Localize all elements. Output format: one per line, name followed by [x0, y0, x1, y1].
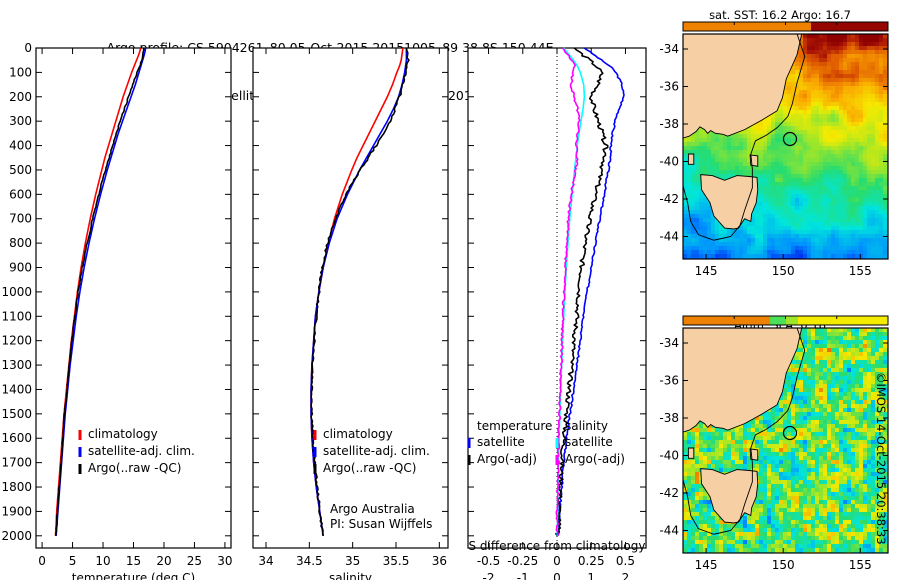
map-cell [815, 150, 820, 155]
map-cell [723, 254, 728, 259]
map-cell [827, 254, 832, 259]
map-cell [859, 190, 864, 195]
map-cell [739, 242, 744, 247]
map-cell [815, 206, 820, 211]
map-cell [779, 238, 784, 243]
map-cell [827, 162, 832, 167]
map-cell [807, 74, 812, 79]
map-cell [875, 66, 880, 71]
map-cell [827, 126, 832, 131]
map-cell [723, 174, 728, 179]
map-cell [827, 242, 832, 247]
map-cell [767, 218, 772, 223]
map-cell [715, 448, 720, 453]
map-cell [787, 432, 792, 437]
map-cell [871, 190, 876, 195]
map-cell [879, 162, 884, 167]
map-cell [767, 436, 772, 441]
map-cell [751, 544, 756, 549]
map-cell [691, 524, 696, 529]
map-cell [835, 174, 840, 179]
map-cell [811, 58, 816, 63]
map-cell [843, 78, 848, 83]
map-cell [815, 242, 820, 247]
map-cell [863, 58, 868, 63]
map-cell [759, 444, 764, 449]
y-tick-label: 1700 [1, 456, 32, 470]
map-cell [759, 540, 764, 545]
map-cell [735, 464, 740, 469]
map-cell [711, 548, 716, 553]
map-cell [699, 508, 704, 513]
map-cell [703, 230, 708, 235]
map-cell [831, 126, 836, 131]
map-cell [803, 250, 808, 255]
map-cell [739, 444, 744, 449]
map-cell [831, 206, 836, 211]
map-cell [683, 472, 688, 477]
map-cell [683, 512, 688, 517]
map-cell [823, 250, 828, 255]
map-cell [819, 186, 824, 191]
map-cell [695, 500, 700, 505]
map-cell [803, 254, 808, 259]
map-cell [859, 38, 864, 43]
map-cell [779, 202, 784, 207]
map-cell [755, 206, 760, 211]
map-cell [819, 254, 824, 259]
map-cell [851, 194, 856, 199]
map-cell [815, 110, 820, 115]
map-cell [811, 234, 816, 239]
map-cell [787, 226, 792, 231]
map-cell [863, 218, 868, 223]
map-cell [875, 158, 880, 163]
map-cell [755, 134, 760, 139]
map-cell [771, 202, 776, 207]
map-cell [819, 150, 824, 155]
map-cell [759, 194, 764, 199]
map-cell [815, 230, 820, 235]
map-cell [863, 230, 868, 235]
map-cell [755, 126, 760, 131]
map-cell [707, 150, 712, 155]
map-cell [807, 174, 812, 179]
map-cell [699, 432, 704, 437]
map-cell [827, 122, 832, 127]
map-cell [867, 166, 872, 171]
map-cell [771, 182, 776, 187]
map-cell [871, 218, 876, 223]
map-cell [811, 166, 816, 171]
map-cell [871, 122, 876, 127]
map-cell [699, 544, 704, 549]
map-cell [763, 448, 768, 453]
map-cell [775, 432, 780, 437]
map-cell [815, 190, 820, 195]
map-cell [791, 190, 796, 195]
map-cell [787, 468, 792, 473]
map-cell [687, 472, 692, 477]
map-cell [707, 456, 712, 461]
map-cell [707, 504, 712, 509]
map-cell [791, 82, 796, 87]
map-cell [779, 504, 784, 509]
map-cell [739, 238, 744, 243]
map-cell [879, 250, 884, 255]
map-cell [843, 150, 848, 155]
map-cell [687, 170, 692, 175]
map-cell [699, 444, 704, 449]
map-cell [687, 226, 692, 231]
map-cell [883, 78, 888, 83]
map-cell [875, 146, 880, 151]
map-cell [859, 58, 864, 63]
map-cell [743, 226, 748, 231]
map-cell [755, 230, 760, 235]
map-cell [771, 496, 776, 501]
map-cell [867, 226, 872, 231]
map-cell [807, 130, 812, 135]
map-cell [703, 154, 708, 159]
legend-label: Argo(..raw -QC) [323, 461, 416, 475]
map-cell [695, 480, 700, 485]
map-cell [847, 206, 852, 211]
map-cell [807, 166, 812, 171]
map-cell [731, 460, 736, 465]
map-cell [839, 42, 844, 47]
map-cell [791, 238, 796, 243]
map-cell [847, 74, 852, 79]
map-cell [763, 528, 768, 533]
map-cell [807, 194, 812, 199]
map-cell [767, 480, 772, 485]
map-cell [815, 254, 820, 259]
map-cell [771, 504, 776, 509]
y-tick-label: 600 [9, 187, 32, 201]
map-cell [783, 508, 788, 513]
map-cell [719, 464, 724, 469]
map-cell [731, 150, 736, 155]
map-cell [799, 158, 804, 163]
map-cell [763, 174, 768, 179]
map-cell [759, 130, 764, 135]
map-cell [827, 138, 832, 143]
map-cell [775, 464, 780, 469]
map-cell [799, 254, 804, 259]
map-cell [819, 58, 824, 63]
map-cell [883, 170, 888, 175]
map-cell [859, 214, 864, 219]
map-cell [695, 238, 700, 243]
map-cell [883, 226, 888, 231]
map-cell [803, 162, 808, 167]
map-cell [823, 90, 828, 95]
map-cell [799, 178, 804, 183]
map-cell [747, 130, 752, 135]
map-cell [815, 210, 820, 215]
map-cell [831, 222, 836, 227]
map-cell [787, 78, 792, 83]
map-cell [799, 230, 804, 235]
map-cell [699, 456, 704, 461]
map-cell [819, 206, 824, 211]
map-cell [831, 70, 836, 75]
x-tick-label: 15 [126, 554, 141, 568]
map-cell [767, 420, 772, 425]
map-cell [707, 162, 712, 167]
map-cell [811, 142, 816, 147]
map-cell [775, 548, 780, 553]
map-cell [707, 452, 712, 457]
map-cell [799, 186, 804, 191]
map-cell [731, 138, 736, 143]
map-cell [835, 126, 840, 131]
map-cell [867, 214, 872, 219]
map-cell [735, 432, 740, 437]
map-cell [835, 142, 840, 147]
map-cell [687, 468, 692, 473]
map-cell [691, 246, 696, 251]
map-cell [723, 444, 728, 449]
y-tick-label: 1900 [1, 504, 32, 518]
map-cell [735, 162, 740, 167]
map-cell [879, 114, 884, 119]
map-cell [871, 102, 876, 107]
map-cell [787, 254, 792, 259]
map-cell [823, 246, 828, 251]
map-cell [787, 416, 792, 421]
map-cell [707, 146, 712, 151]
map-cell [787, 488, 792, 493]
x-tick-label: 25 [187, 554, 202, 568]
map-cell [791, 226, 796, 231]
map-cell [863, 46, 868, 51]
map-cell [803, 234, 808, 239]
map-cell [823, 254, 828, 259]
map-cell [795, 234, 800, 239]
map-cell [791, 138, 796, 143]
map-cell [807, 110, 812, 115]
map-cell [847, 202, 852, 207]
map-cell [727, 540, 732, 545]
map-cell [743, 452, 748, 457]
map-cell [851, 154, 856, 159]
map-cell [699, 218, 704, 223]
map-cell [763, 464, 768, 469]
map-cell [715, 540, 720, 545]
map-cell [799, 86, 804, 91]
map-cell [707, 142, 712, 147]
map-cell [691, 460, 696, 465]
map-cell [711, 150, 716, 155]
map-cell [819, 182, 824, 187]
map-cell [731, 548, 736, 553]
map-cell [859, 142, 864, 147]
map-cell [683, 532, 688, 537]
map-cell [723, 460, 728, 465]
map-cell [787, 500, 792, 505]
map-cell [779, 508, 784, 513]
map-cell [687, 480, 692, 485]
map-cell [839, 154, 844, 159]
map-cell [775, 516, 780, 521]
map-cell [683, 548, 688, 553]
map-cell [743, 464, 748, 469]
map-cell [787, 206, 792, 211]
map-cell [763, 532, 768, 537]
map-cell [751, 218, 756, 223]
map-cell [699, 532, 704, 537]
map-cell [771, 122, 776, 127]
map-cell [815, 142, 820, 147]
map-cell [883, 82, 888, 87]
map-cell [835, 114, 840, 119]
map-cell [823, 170, 828, 175]
map-cell [695, 516, 700, 521]
map-cell [711, 460, 716, 465]
map-cell [699, 130, 704, 135]
map-cell [867, 114, 872, 119]
map-cell [771, 536, 776, 541]
legend-group-temperature: temperature [477, 419, 552, 433]
map-cell [803, 198, 808, 203]
map-cell [763, 154, 768, 159]
map-cell [699, 254, 704, 259]
map-cell [827, 130, 832, 135]
map-cell [727, 138, 732, 143]
map-cell [815, 218, 820, 223]
map-cell [819, 106, 824, 111]
map-cell [763, 130, 768, 135]
map-cell [739, 170, 744, 175]
map-cell [855, 150, 860, 155]
map-cell [855, 62, 860, 67]
map-cell [763, 512, 768, 517]
map-cell [883, 126, 888, 131]
map-cell [727, 162, 732, 167]
y-tick-label: 300 [9, 114, 32, 128]
map-cell [767, 162, 772, 167]
map-cell [875, 174, 880, 179]
map-cell [719, 432, 724, 437]
map-cell [855, 78, 860, 83]
map-cell [755, 226, 760, 231]
map-cell [823, 98, 828, 103]
map-cell [727, 536, 732, 541]
map-cell [863, 254, 868, 259]
map-cell [779, 536, 784, 541]
map-cell [847, 118, 852, 123]
map-cell [767, 468, 772, 473]
map-cell [727, 254, 732, 259]
map-cell [779, 540, 784, 545]
map-cell [727, 460, 732, 465]
map-cell [839, 186, 844, 191]
map-cell [791, 122, 796, 127]
map-cell [711, 520, 716, 525]
map-cell [691, 230, 696, 235]
map-x-tick-label: 150 [772, 264, 795, 278]
map-cell [803, 118, 808, 123]
map-cell [699, 146, 704, 151]
map-cell [871, 214, 876, 219]
map-cell [875, 234, 880, 239]
map-cell [839, 214, 844, 219]
map-cell [819, 46, 824, 51]
map-cell [875, 98, 880, 103]
map-cell [695, 218, 700, 223]
map-cell [883, 166, 888, 171]
map-cell [843, 118, 848, 123]
map-cell [823, 194, 828, 199]
y-tick-label: 1000 [1, 285, 32, 299]
map-cell [687, 138, 692, 143]
map-cell [815, 166, 820, 171]
map-cell [835, 86, 840, 91]
map-cell [751, 428, 756, 433]
map-cell [783, 254, 788, 259]
map-cell [695, 512, 700, 517]
map-cell [763, 424, 768, 429]
map-cell [779, 170, 784, 175]
map-cell [843, 214, 848, 219]
map-cell [783, 520, 788, 525]
map-cell [767, 118, 772, 123]
map-cell [855, 70, 860, 75]
map-cell [683, 242, 688, 247]
map-cell [875, 218, 880, 223]
map-cell [803, 186, 808, 191]
map-cell [763, 158, 768, 163]
map-cell [775, 496, 780, 501]
map-cell [839, 158, 844, 163]
map-cell [803, 206, 808, 211]
map-cell [831, 134, 836, 139]
map-cell [875, 222, 880, 227]
map-cell [695, 536, 700, 541]
map-cell [799, 122, 804, 127]
map-cell [723, 536, 728, 541]
map-cell [815, 34, 820, 39]
map-cell [827, 106, 832, 111]
map-cell [815, 222, 820, 227]
map-cell [759, 122, 764, 127]
map-cell [827, 210, 832, 215]
map-cell [699, 142, 704, 147]
map-y-tick-label: -38 [659, 117, 679, 131]
map-cell [783, 94, 788, 99]
map-cell [759, 456, 764, 461]
map-cell [775, 190, 780, 195]
map-cell [807, 34, 812, 39]
map-cell [863, 142, 868, 147]
map-cell [695, 142, 700, 147]
map-cell [819, 62, 824, 67]
map-cell [815, 90, 820, 95]
map-cell [695, 508, 700, 513]
map-cell [779, 400, 784, 405]
temperature-panel: 0100200300400500600700800900100011001200… [0, 38, 240, 580]
map-cell [763, 460, 768, 465]
map-cell [879, 74, 884, 79]
map-cell [795, 154, 800, 159]
x-tick-label-secondary: 0.5 [616, 554, 635, 568]
map-cell [859, 130, 864, 135]
map-cell [775, 242, 780, 247]
map-cell [819, 142, 824, 147]
map-cell [683, 210, 688, 215]
